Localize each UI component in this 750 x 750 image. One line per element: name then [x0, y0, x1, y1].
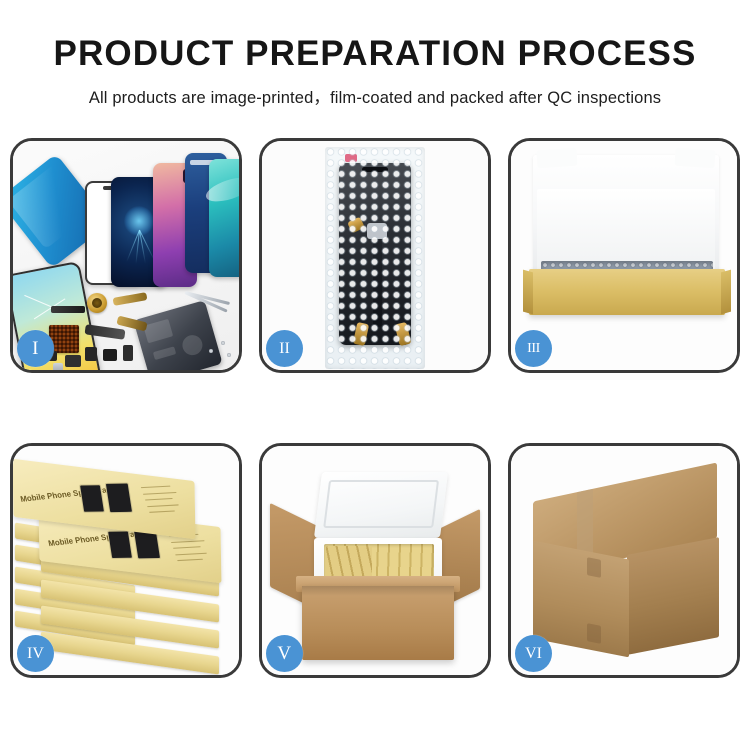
small-component-2 [103, 349, 117, 361]
speaker-component [87, 293, 107, 313]
small-component-1 [85, 347, 97, 361]
process-step-card-4: Mobile Phone Spare Parts Mobile Phone Sp… [10, 443, 242, 678]
step-badge-1: I [17, 330, 54, 367]
step-badge-4: IV [17, 635, 54, 672]
tweezers-tool [185, 291, 233, 331]
process-step-grid: I II [10, 138, 740, 678]
process-step-card-6: VI [508, 443, 740, 678]
step-badge-5: V [266, 635, 303, 672]
styrofoam-lid [314, 472, 448, 538]
sealed-carton-side [627, 537, 719, 655]
process-step-card-5: V [259, 443, 491, 678]
step-badge-6: VI [515, 635, 552, 672]
small-component-3 [123, 345, 133, 361]
teal-gradient-phone [209, 159, 239, 277]
page-header: PRODUCT PREPARATION PROCESS All products… [0, 0, 750, 108]
process-step-card-2: II [259, 138, 491, 373]
page-title: PRODUCT PREPARATION PROCESS [0, 36, 750, 73]
sealed-carton-front [533, 541, 629, 658]
step-badge-3: III [515, 330, 552, 367]
page-subtitle: All products are image-printed，film-coat… [0, 84, 750, 108]
step-badge-2: II [266, 330, 303, 367]
carton-body [302, 586, 454, 660]
yellow-box-tray [529, 269, 725, 315]
bubble-wrap-bag [325, 147, 425, 369]
process-step-card-1: I [10, 138, 242, 373]
antenna-strip-part [51, 306, 85, 313]
small-component-4 [65, 355, 81, 367]
product-preparation-page: PRODUCT PREPARATION PROCESS All products… [0, 0, 750, 750]
sim-tray-part [53, 363, 63, 370]
bubble-texture [325, 147, 425, 369]
process-step-card-3: III [508, 138, 740, 373]
